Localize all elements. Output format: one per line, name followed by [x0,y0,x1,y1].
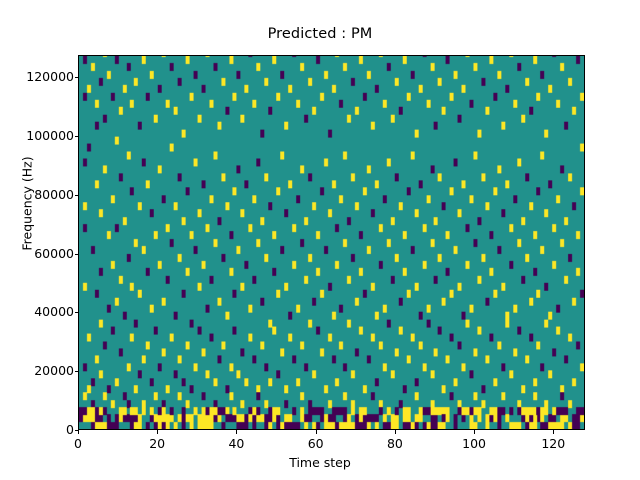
x-tick-label: 120 [533,436,573,451]
heatmap-canvas [79,56,584,429]
x-tick-mark [395,430,396,434]
x-axis-label: Time step [0,455,640,470]
y-tick-mark [75,312,79,313]
x-tick-mark [553,430,554,434]
y-tick-mark [75,136,79,137]
matplotlib-figure: Predicted : PM 0200004000060000800001000… [0,0,640,480]
y-axis-label: Frequency (Hz) [20,124,35,284]
heatmap-axes[interactable] [78,55,585,430]
x-tick-label: 80 [375,436,415,451]
y-tick-mark [75,195,79,196]
x-tick-label: 100 [454,436,494,451]
x-tick-mark [236,430,237,434]
x-tick-mark [474,430,475,434]
x-tick-mark [78,430,79,434]
x-tick-label: 40 [216,436,256,451]
x-tick-label: 20 [137,436,177,451]
y-tick-mark [75,371,79,372]
y-tick-label: 120000 [14,69,74,84]
x-tick-label: 60 [296,436,336,451]
y-tick-mark [75,77,79,78]
x-tick-mark [316,430,317,434]
y-tick-label: 0 [14,422,74,437]
y-tick-label: 40000 [14,304,74,319]
x-tick-mark [157,430,158,434]
y-tick-label: 20000 [14,363,74,378]
chart-title: Predicted : PM [0,26,640,42]
y-tick-mark [75,254,79,255]
x-tick-label: 0 [58,436,98,451]
